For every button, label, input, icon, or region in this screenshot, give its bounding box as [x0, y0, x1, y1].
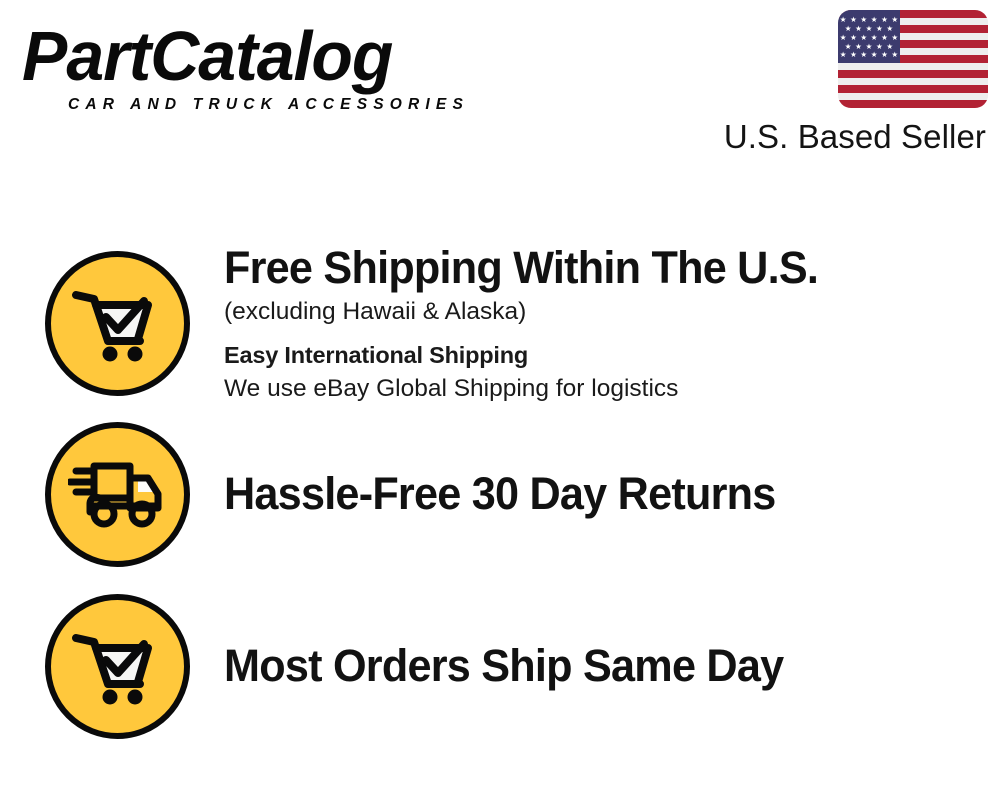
benefit-heading: Free Shipping Within The U.S. — [224, 242, 950, 294]
brand-tagline: CAR AND TRUCK ACCESSORIES — [68, 96, 492, 114]
benefit-subtext-exclusions: (excluding Hawaii & Alaska) — [224, 296, 980, 328]
flag-star-row: ★★★★★ — [838, 25, 900, 33]
flag-stripe — [838, 78, 988, 86]
benefit-subtext-international: Easy International Shipping — [224, 339, 980, 371]
flag-stripe — [838, 70, 988, 78]
flag-stripe — [838, 100, 988, 108]
flag-stripe — [838, 85, 988, 93]
flag-stripe — [838, 93, 988, 101]
delivery-truck-icon — [45, 422, 190, 567]
benefit-row: Most Orders Ship Same Day — [0, 580, 1000, 752]
benefit-text-block: Hassle-Free 30 Day Returns — [224, 468, 1000, 520]
benefit-text-block: Most Orders Ship Same Day — [224, 640, 1000, 692]
benefit-row: Free Shipping Within The U.S. (excluding… — [0, 236, 1000, 410]
brand-logo: PartCatalog CAR AND TRUCK ACCESSORIES — [22, 18, 492, 114]
flag-star-row: ★★★★★★ — [838, 51, 900, 59]
benefit-heading: Most Orders Ship Same Day — [224, 640, 950, 692]
flag-star-row: ★★★★★★ — [838, 16, 900, 24]
promo-banner: PartCatalog CAR AND TRUCK ACCESSORIES — [0, 0, 1000, 800]
flag-star-row: ★★★★★★ — [838, 34, 900, 42]
flag-stripe — [838, 63, 988, 71]
benefit-subtext-logistics: We use eBay Global Shipping for logistic… — [224, 373, 980, 405]
us-based-seller-label: U.S. Based Seller — [560, 118, 986, 156]
shopping-cart-check-icon — [45, 594, 190, 739]
flag-star-row: ★★★★★ — [838, 43, 900, 51]
benefit-text-block: Free Shipping Within The U.S. (excluding… — [224, 242, 1000, 405]
benefit-heading: Hassle-Free 30 Day Returns — [224, 468, 950, 520]
shopping-cart-check-icon — [45, 251, 190, 396]
benefit-row: Hassle-Free 30 Day Returns — [0, 408, 1000, 580]
flag-canton: ★★★★★★ ★★★★★ ★★★★★★ ★★★★★ ★★★★★★ — [838, 10, 900, 63]
brand-wordmark: PartCatalog — [22, 18, 478, 94]
banner-header: PartCatalog CAR AND TRUCK ACCESSORIES — [0, 0, 1000, 175]
us-flag-icon: ★★★★★★ ★★★★★ ★★★★★★ ★★★★★ ★★★★★★ — [838, 10, 988, 108]
